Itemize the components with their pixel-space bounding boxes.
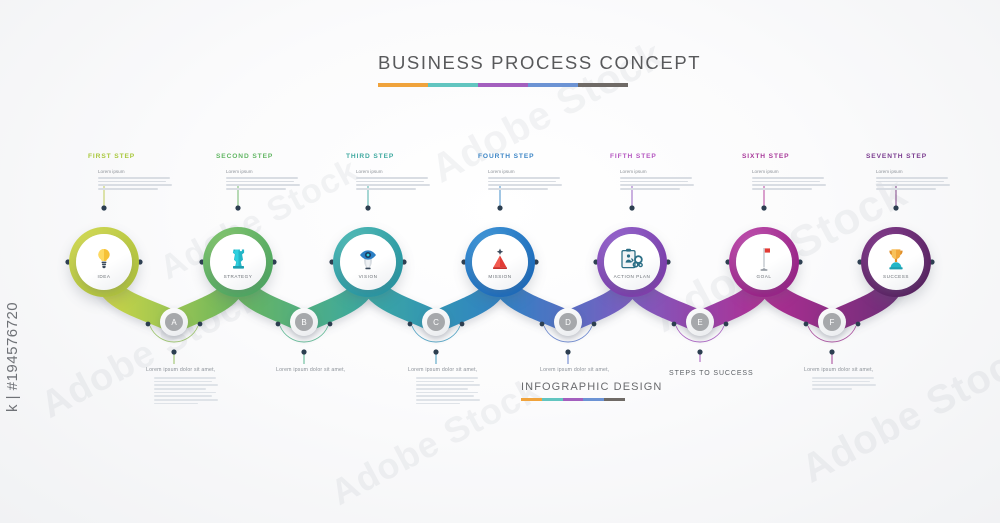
step-head-lines — [876, 177, 986, 190]
bottom-block-title: Lorem ipsum dolor sit amet, — [408, 367, 518, 373]
step-head-label: FIRST STEP — [88, 153, 208, 160]
goal-flag-icon — [756, 246, 772, 272]
node-label: GOAL — [757, 274, 772, 279]
connector-d[interactable]: D — [554, 308, 582, 336]
node-inner: STRATEGY — [210, 234, 266, 290]
bottom-block-title: Lorem ipsum dolor sit amet, — [540, 367, 650, 373]
subtitle-block: INFOGRAPHIC DESIGN — [521, 381, 625, 401]
step-head-lines — [356, 177, 466, 190]
step-head-lorem: Lorem ipsum — [752, 169, 862, 174]
step-head-7[interactable]: SEVENTH STEP Lorem ipsum — [866, 153, 986, 192]
bottom-block-4[interactable]: Lorem ipsum dolor sit amet, — [540, 367, 650, 373]
step-head-1[interactable]: FIRST STEP Lorem ipsum — [88, 153, 208, 192]
connector-c[interactable]: C — [422, 308, 450, 336]
node-inner: ACTION PLAN — [604, 234, 660, 290]
chess-rook-icon — [230, 246, 247, 272]
node-label: IDEA — [98, 274, 111, 279]
bottom-block-lines — [416, 377, 518, 404]
connector-letter: A — [165, 313, 183, 331]
step-head-lines — [488, 177, 598, 190]
bottom-block-2[interactable]: Lorem ipsum dolor sit amet, — [276, 367, 386, 373]
step-head-label: SEVENTH STEP — [866, 153, 986, 160]
lightbulb-icon — [96, 246, 112, 272]
subtitle: INFOGRAPHIC DESIGN — [521, 381, 625, 393]
sub-rule-seg-0 — [521, 398, 542, 401]
connector-letter: E — [691, 313, 709, 331]
bottom-block-lines — [812, 377, 914, 390]
node-inner: GOAL — [736, 234, 792, 290]
node-idea[interactable]: IDEA — [69, 227, 139, 297]
step-head-2[interactable]: SECOND STEP Lorem ipsum — [216, 153, 336, 192]
bottom-block-lines — [154, 377, 256, 404]
node-inner: VISION — [340, 234, 396, 290]
bottom-block-3[interactable]: Lorem ipsum dolor sit amet, — [408, 367, 518, 407]
step-head-lines — [226, 177, 336, 190]
sub-rule-seg-4 — [604, 398, 625, 401]
steps-to-success-label: STEPS TO SUCCESS — [669, 370, 754, 377]
bottom-block-title: Lorem ipsum dolor sit amet, — [804, 367, 914, 373]
infographic-canvas: k | #194576720 Adobe Stock Adobe Stock A… — [0, 0, 1000, 523]
bottom-block-1[interactable]: Lorem ipsum dolor sit amet, — [146, 367, 256, 407]
node-action-plan[interactable]: ACTION PLAN — [597, 227, 667, 297]
connector-b[interactable]: B — [290, 308, 318, 336]
step-head-lorem: Lorem ipsum — [620, 169, 730, 174]
connector-letter: D — [559, 313, 577, 331]
node-success[interactable]: SUCCESS — [861, 227, 931, 297]
step-head-lorem: Lorem ipsum — [226, 169, 336, 174]
step-head-lines — [752, 177, 862, 190]
step-head-lorem: Lorem ipsum — [488, 169, 598, 174]
step-head-lorem: Lorem ipsum — [876, 169, 986, 174]
step-head-label: THIRD STEP — [346, 153, 466, 160]
connector-f[interactable]: F — [818, 308, 846, 336]
connector-e[interactable]: E — [686, 308, 714, 336]
node-label: VISION — [359, 274, 378, 279]
node-label: ACTION PLAN — [614, 274, 651, 279]
node-goal[interactable]: GOAL — [729, 227, 799, 297]
connector-a[interactable]: A — [160, 308, 188, 336]
eye-vision-icon — [358, 246, 378, 272]
connector-letter: B — [295, 313, 313, 331]
node-vision[interactable]: VISION — [333, 227, 403, 297]
step-head-lines — [620, 177, 730, 190]
step-head-label: SECOND STEP — [216, 153, 336, 160]
subtitle-rule — [521, 398, 625, 401]
mission-flag-icon — [490, 246, 510, 272]
step-head-label: FIFTH STEP — [610, 153, 730, 160]
node-mission[interactable]: MISSION — [465, 227, 535, 297]
trophy-icon — [886, 246, 906, 272]
bottom-block-title: Lorem ipsum dolor sit amet, — [276, 367, 386, 373]
connector-letter: F — [823, 313, 841, 331]
step-head-3[interactable]: THIRD STEP Lorem ipsum — [346, 153, 466, 192]
node-inner: IDEA — [76, 234, 132, 290]
step-head-lorem: Lorem ipsum — [356, 169, 466, 174]
step-head-5[interactable]: FIFTH STEP Lorem ipsum — [610, 153, 730, 192]
sub-rule-seg-2 — [563, 398, 584, 401]
sub-rule-seg-1 — [542, 398, 563, 401]
bottom-block-5[interactable]: Lorem ipsum dolor sit amet, — [804, 367, 914, 392]
step-head-4[interactable]: FOURTH STEP Lorem ipsum — [478, 153, 598, 192]
node-strategy[interactable]: STRATEGY — [203, 227, 273, 297]
step-head-label: FOURTH STEP — [478, 153, 598, 160]
node-inner: SUCCESS — [868, 234, 924, 290]
node-label: MISSION — [488, 274, 511, 279]
sub-rule-seg-3 — [583, 398, 604, 401]
connector-letter: C — [427, 313, 445, 331]
node-label: STRATEGY — [224, 274, 253, 279]
node-label: SUCCESS — [883, 274, 909, 279]
bottom-block-title: Lorem ipsum dolor sit amet, — [146, 367, 256, 373]
node-inner: MISSION — [472, 234, 528, 290]
step-head-lines — [98, 177, 208, 190]
step-head-label: SIXTH STEP — [742, 153, 862, 160]
clipboard-gears-icon — [620, 246, 644, 272]
step-head-6[interactable]: SIXTH STEP Lorem ipsum — [742, 153, 862, 192]
step-head-lorem: Lorem ipsum — [98, 169, 208, 174]
